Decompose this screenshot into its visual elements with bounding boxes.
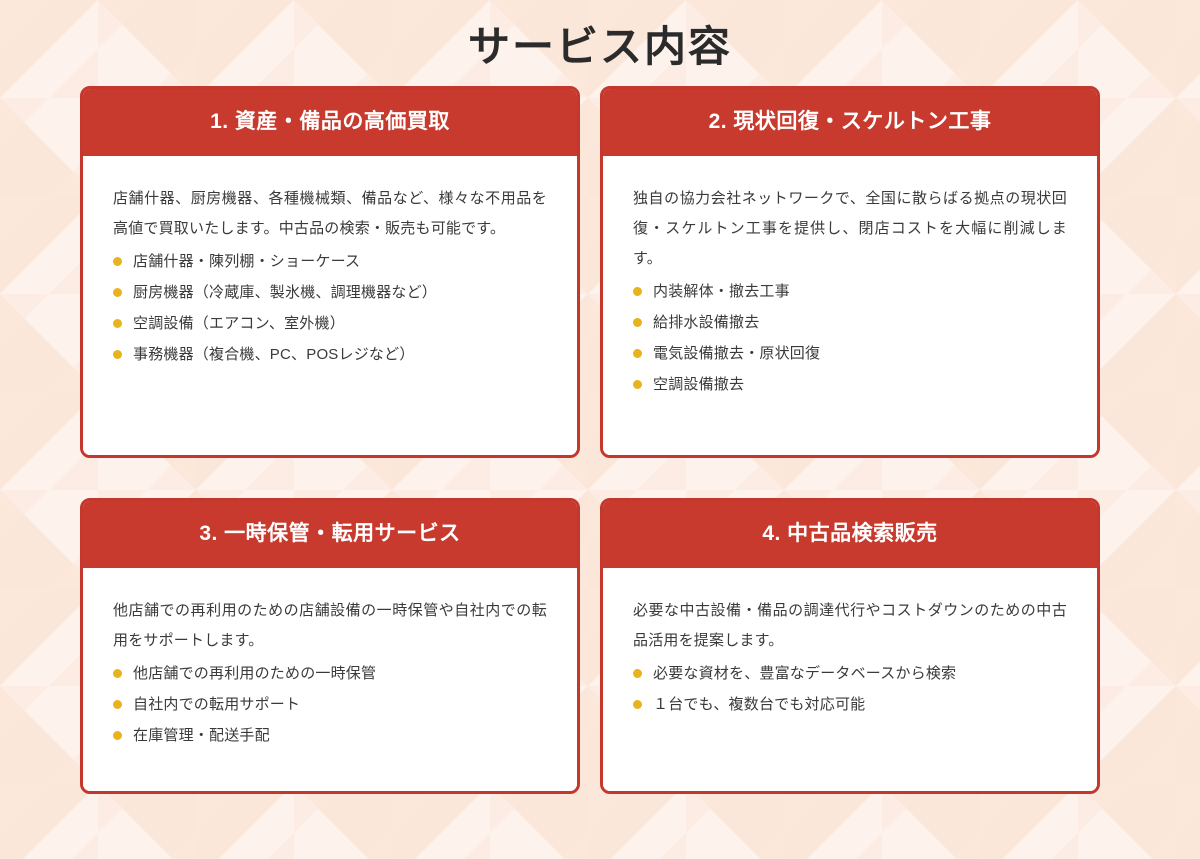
list-item: 必要な資材を、豊富なデータベースから検索 bbox=[633, 658, 1067, 689]
service-card-2-list: 内装解体・撤去工事 給排水設備撤去 電気設備撤去・原状回復 空調設備撤去 bbox=[633, 276, 1067, 400]
list-item-label: 在庫管理・配送手配 bbox=[133, 727, 270, 744]
bullet-dot-icon bbox=[113, 350, 122, 359]
service-card-3-description: 他店舗での再利用のための店舗設備の一時保管や自社内での転用をサポートします。 bbox=[113, 596, 547, 656]
service-card-1: 1. 資産・備品の高価買取 店舗什器、厨房機器、各種機械類、備品など、様々な不用… bbox=[80, 86, 580, 458]
list-item-label: 電気設備撤去・原状回復 bbox=[653, 345, 820, 362]
bullet-dot-icon bbox=[633, 700, 642, 709]
bullet-dot-icon bbox=[633, 669, 642, 678]
list-item: 空調設備撤去 bbox=[633, 369, 1067, 400]
service-card-1-description: 店舗什器、厨房機器、各種機械類、備品など、様々な不用品を高値で買取いたします。中… bbox=[113, 184, 547, 244]
service-card-2: 2. 現状回復・スケルトン工事 独自の協力会社ネットワークで、全国に散らばる拠点… bbox=[600, 86, 1100, 458]
bullet-dot-icon bbox=[113, 731, 122, 740]
service-card-3-list: 他店舗での再利用のための一時保管 自社内での転用サポート 在庫管理・配送手配 bbox=[113, 658, 547, 751]
service-card-3-body: 他店舗での再利用のための店舗設備の一時保管や自社内での転用をサポートします。 他… bbox=[83, 568, 577, 791]
service-card-4: 4. 中古品検索販売 必要な中古設備・備品の調達代行やコストダウンのための中古品… bbox=[600, 498, 1100, 794]
bullet-dot-icon bbox=[633, 349, 642, 358]
bullet-dot-icon bbox=[633, 380, 642, 389]
service-card-grid: 1. 資産・備品の高価買取 店舗什器、厨房機器、各種機械類、備品など、様々な不用… bbox=[80, 86, 1120, 794]
service-card-1-body: 店舗什器、厨房機器、各種機械類、備品など、様々な不用品を高値で買取いたします。中… bbox=[83, 156, 577, 455]
list-item-label: 他店舗での再利用のための一時保管 bbox=[133, 665, 376, 682]
bullet-dot-icon bbox=[633, 287, 642, 296]
list-item-label: 自社内での転用サポート bbox=[133, 696, 300, 713]
list-item: 厨房機器（冷蔵庫、製氷機、調理機器など） bbox=[113, 277, 547, 308]
list-item-label: １台でも、複数台でも対応可能 bbox=[653, 696, 865, 713]
service-card-4-list: 必要な資材を、豊富なデータベースから検索 １台でも、複数台でも対応可能 bbox=[633, 658, 1067, 720]
service-card-3-header: 3. 一時保管・転用サービス bbox=[83, 501, 577, 568]
service-card-1-header: 1. 資産・備品の高価買取 bbox=[83, 89, 577, 156]
list-item-label: 空調設備（エアコン、室外機） bbox=[133, 315, 345, 332]
list-item-label: 空調設備撤去 bbox=[653, 376, 744, 393]
list-item: 給排水設備撤去 bbox=[633, 307, 1067, 338]
bullet-dot-icon bbox=[113, 257, 122, 266]
list-item-label: 厨房機器（冷蔵庫、製氷機、調理機器など） bbox=[133, 284, 437, 301]
list-item-label: 内装解体・撤去工事 bbox=[653, 283, 790, 300]
list-item-label: 給排水設備撤去 bbox=[653, 314, 759, 331]
page-title: サービス内容 bbox=[80, 0, 1120, 86]
list-item: 空調設備（エアコン、室外機） bbox=[113, 308, 547, 339]
bullet-dot-icon bbox=[633, 318, 642, 327]
service-card-2-header: 2. 現状回復・スケルトン工事 bbox=[603, 89, 1097, 156]
service-card-4-body: 必要な中古設備・備品の調達代行やコストダウンのための中古品活用を提案します。 必… bbox=[603, 568, 1097, 791]
list-item: 事務機器（複合機、PC、POSレジなど） bbox=[113, 339, 547, 370]
bullet-dot-icon bbox=[113, 700, 122, 709]
list-item: 他店舗での再利用のための一時保管 bbox=[113, 658, 547, 689]
list-item: 内装解体・撤去工事 bbox=[633, 276, 1067, 307]
service-content-page: サービス内容 1. 資産・備品の高価買取 店舗什器、厨房機器、各種機械類、備品な… bbox=[0, 0, 1200, 859]
service-card-4-description: 必要な中古設備・備品の調達代行やコストダウンのための中古品活用を提案します。 bbox=[633, 596, 1067, 656]
list-item-label: 必要な資材を、豊富なデータベースから検索 bbox=[653, 665, 956, 682]
service-card-4-header: 4. 中古品検索販売 bbox=[603, 501, 1097, 568]
list-item: １台でも、複数台でも対応可能 bbox=[633, 689, 1067, 720]
service-card-3: 3. 一時保管・転用サービス 他店舗での再利用のための店舗設備の一時保管や自社内… bbox=[80, 498, 580, 794]
list-item: 電気設備撤去・原状回復 bbox=[633, 338, 1067, 369]
list-item-label: 事務機器（複合機、PC、POSレジなど） bbox=[133, 346, 415, 363]
service-card-2-body: 独自の協力会社ネットワークで、全国に散らばる拠点の現状回復・スケルトン工事を提供… bbox=[603, 156, 1097, 455]
bullet-dot-icon bbox=[113, 669, 122, 678]
list-item-label: 店舗什器・陳列棚・ショーケース bbox=[133, 253, 360, 270]
bullet-dot-icon bbox=[113, 319, 122, 328]
service-card-1-list: 店舗什器・陳列棚・ショーケース 厨房機器（冷蔵庫、製氷機、調理機器など） 空調設… bbox=[113, 246, 547, 370]
bullet-dot-icon bbox=[113, 288, 122, 297]
list-item: 在庫管理・配送手配 bbox=[113, 720, 547, 751]
list-item: 自社内での転用サポート bbox=[113, 689, 547, 720]
list-item: 店舗什器・陳列棚・ショーケース bbox=[113, 246, 547, 277]
service-card-2-description: 独自の協力会社ネットワークで、全国に散らばる拠点の現状回復・スケルトン工事を提供… bbox=[633, 184, 1067, 274]
